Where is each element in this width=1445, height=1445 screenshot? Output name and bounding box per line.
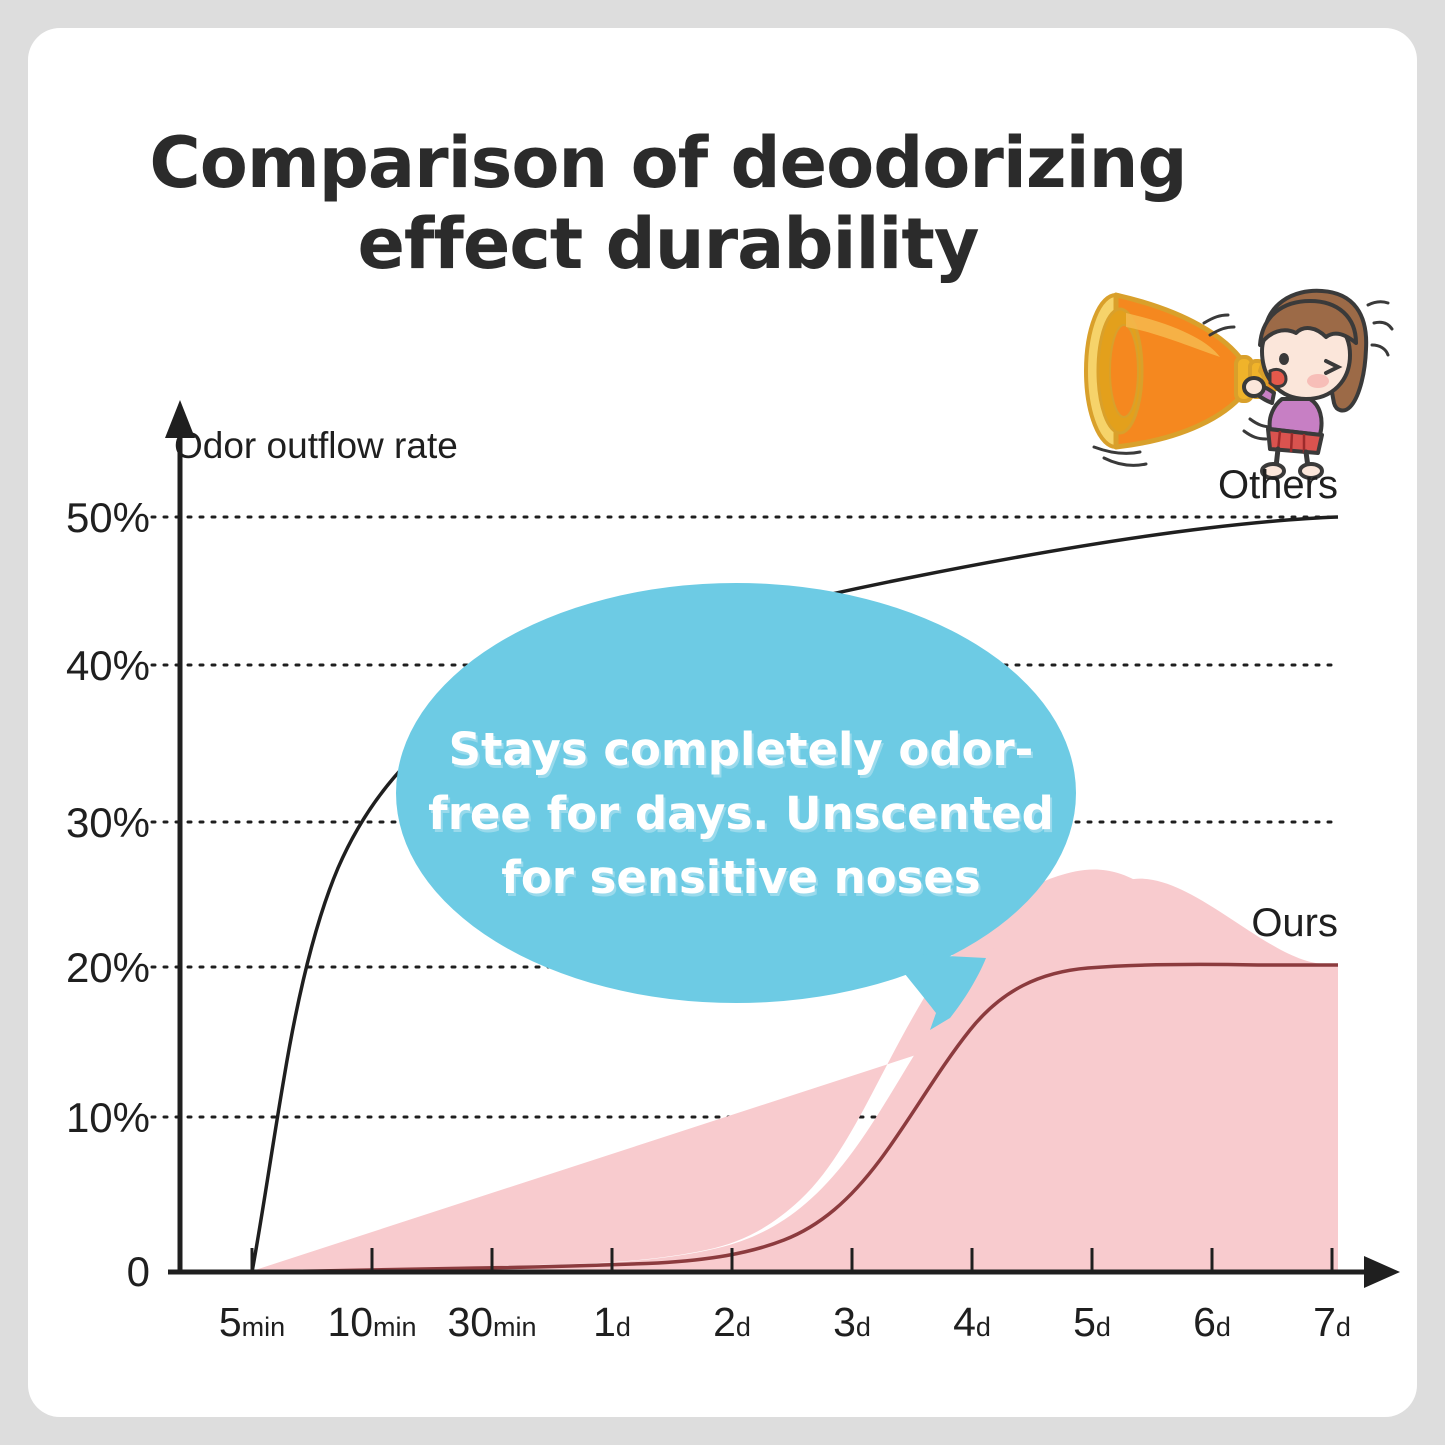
content-card: Comparison of deodorizing effect durabil… [28,28,1417,1417]
x-tick-label-9: 7d [1313,1299,1351,1345]
x-tick-labels: 5min 10min 30min 1d 2d 3d [219,1299,1351,1345]
y-axis-title: Odor outflow rate [174,425,458,466]
x-tick-label-2: 30min [447,1299,536,1345]
y-tick-label-20: 20% [66,944,150,991]
x-axis-arrow [1364,1256,1400,1288]
x-tick-label-4: 2d [713,1299,751,1345]
x-tick-label-8: 6d [1193,1299,1231,1345]
poster-page: Comparison of deodorizing effect durabil… [0,0,1445,1445]
series-label-ours: Ours [1251,901,1338,945]
x-tick-label-3: 1d [593,1299,631,1345]
x-tick-label-0: 5min [219,1299,285,1345]
x-tick-label-1: 10min [327,1299,416,1345]
series-label-others: Others [1218,463,1338,507]
y-tick-label-50: 50% [66,494,150,541]
x-tick-label-7: 5d [1073,1299,1111,1345]
deodorizing-durability-chart: Odor outflow rate 0 10% 20% 30% 40% 50% … [28,28,1417,1417]
y-tick-label-30: 30% [66,799,150,846]
y-tick-label-0: 0 [127,1248,150,1295]
x-tick-label-6: 4d [953,1299,991,1345]
x-tick-label-5: 3d [833,1299,871,1345]
y-tick-label-10: 10% [66,1094,150,1141]
y-tick-label-40: 40% [66,642,150,689]
